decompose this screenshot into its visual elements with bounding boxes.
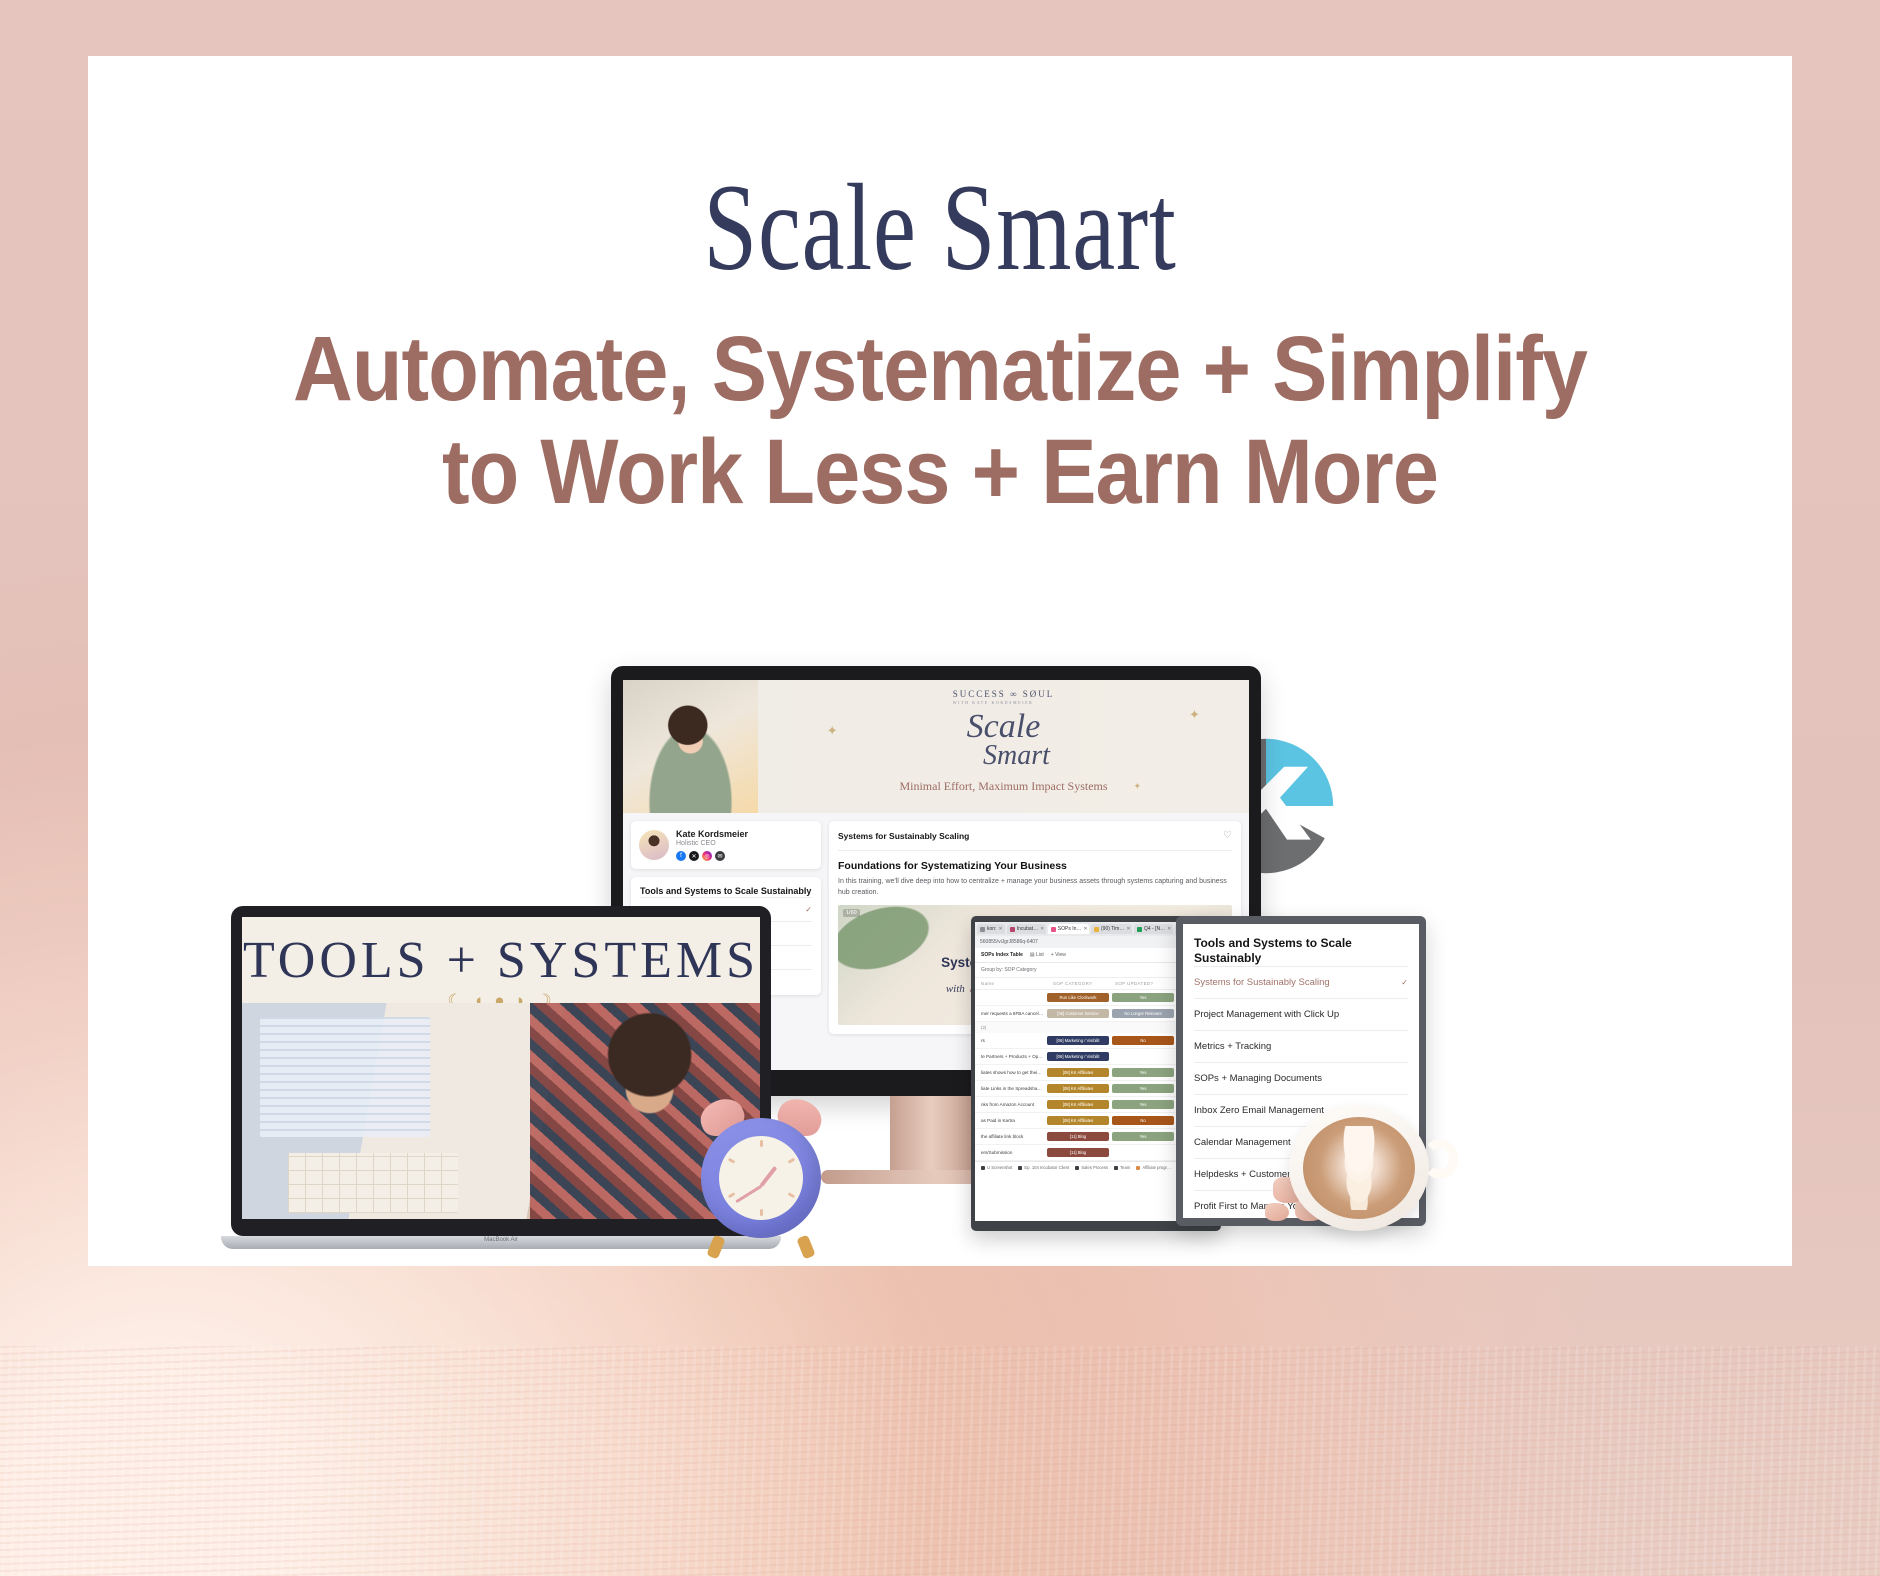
tablet-module-item[interactable]: SOPs + Managing Documents	[1194, 1062, 1408, 1094]
coffee-crema	[1303, 1117, 1415, 1219]
cell-category: [08] KK Affiliates	[1047, 1116, 1109, 1125]
cell-name: ers/Submission	[981, 1150, 1044, 1155]
coffee-cup	[1289, 1105, 1429, 1231]
footer-tab-label: Affiliate progr…	[1142, 1165, 1171, 1170]
subtitle-line-2: to Work Less + Earn More	[173, 421, 1707, 524]
instagram-icon[interactable]: ◎	[702, 851, 712, 861]
view-list-label: List	[1036, 952, 1044, 958]
tab-label: (90) Tim…	[1101, 926, 1124, 932]
close-icon[interactable]: ✕	[998, 926, 1002, 932]
table-name[interactable]: SOPs Index Table	[981, 952, 1023, 958]
headline-block: Scale Smart Automate, Systematize + Simp…	[88, 166, 1792, 524]
column-header-category: SOP CATEGORY	[1053, 981, 1115, 986]
module-label: Systems for Sustainably Scaling	[1194, 977, 1330, 988]
cell-status	[1112, 1151, 1174, 1155]
cup-handle	[1422, 1139, 1458, 1179]
cell-name: rs	[981, 1038, 1044, 1043]
tab-label: SOPs In…	[1058, 926, 1082, 932]
browser-tab[interactable]: kon:✕	[977, 924, 1005, 934]
cell-status: Yes	[1112, 1084, 1174, 1093]
success-soul-logo: SUCCESS ∞ SØUL WITH KATE KORDSMEIER	[953, 689, 1054, 705]
cell-status: Yes	[1112, 1132, 1174, 1141]
footer-tab[interactable]: Team	[1114, 1165, 1130, 1170]
cell-status	[1112, 1055, 1174, 1059]
sparkle-icon: ✦	[827, 723, 838, 739]
cell-category: [11] Blog	[1047, 1148, 1109, 1157]
close-icon[interactable]: ✕	[1083, 926, 1087, 932]
instructor-profile-card: Kate Kordsmeier Holistic CEO f ✕ ◎ ✉	[631, 821, 821, 869]
footer-tab[interactable]: U Screenshot	[981, 1165, 1012, 1170]
promo-card: Scale Smart Automate, Systematize + Simp…	[88, 56, 1792, 1266]
tab-label: kon:	[987, 926, 996, 932]
cell-status: No	[1112, 1036, 1174, 1045]
brand-logo-text: SUCCESS ∞ SØUL	[953, 689, 1054, 699]
tab-label: Q4 - [N…	[1144, 926, 1165, 932]
clock-foot-left	[706, 1235, 725, 1260]
cell-category: [11] Blog	[1047, 1132, 1109, 1141]
close-icon[interactable]: ✕	[1040, 926, 1044, 932]
desk-planner-photo	[288, 1153, 458, 1213]
lesson-header: Systems for Sustainably Scaling ♡	[838, 830, 1232, 841]
cell-name: as Paid in Kartra	[981, 1118, 1044, 1123]
cell-category: [06] Marketing / Visibilit	[1047, 1036, 1109, 1045]
cell-category: [08] KK Affiliates	[1047, 1068, 1109, 1077]
browser-tab[interactable]: Incubat…✕	[1007, 924, 1046, 934]
sparkle-icon: ✦	[1189, 707, 1200, 723]
profile-text: Kate Kordsmeier Holistic CEO f ✕ ◎ ✉	[676, 829, 748, 861]
instructor-name: Kate Kordsmeier	[676, 829, 748, 839]
browser-tab[interactable]: (90) Tim…✕	[1091, 924, 1132, 934]
hero-text-area: SUCCESS ∞ SØUL WITH KATE KORDSMEIER ✦ ✦ …	[758, 680, 1249, 813]
module-label: Calendar Management	[1194, 1137, 1291, 1148]
latte-art	[1326, 1126, 1392, 1210]
cell-status: No Longer Relevant	[1112, 1009, 1174, 1018]
footer-tab-label: U Screenshot	[987, 1165, 1012, 1170]
clock-foot-right	[796, 1235, 815, 1260]
cell-category: [08] KK Affiliates	[1047, 1100, 1109, 1109]
subtitle-line-1: Automate, Systematize + Simplify	[173, 318, 1707, 421]
presenter-prefix: with	[946, 983, 965, 995]
instructor-role: Holistic CEO	[676, 840, 748, 847]
cell-name: nks from Amazon Account	[981, 1102, 1044, 1107]
column-header-updated: SOP UPDATED?	[1115, 981, 1177, 986]
footer-tab[interactable]: Ep. 104 Incubator Client	[1018, 1165, 1069, 1170]
cell-category: [05] Customer Service	[1047, 1009, 1109, 1018]
close-icon[interactable]: ✕	[1167, 926, 1171, 932]
alarm-clock-prop	[686, 1096, 836, 1256]
cell-status: No	[1112, 1116, 1174, 1125]
column-header-name: Name	[981, 981, 1053, 986]
lesson-description: In this training, we'll dive deep into h…	[838, 877, 1232, 898]
tablet-module-item[interactable]: Systems for Sustainably Scaling ✓	[1194, 966, 1408, 998]
cell-name: the affiliate link block	[981, 1134, 1044, 1139]
heart-icon[interactable]: ♡	[1223, 830, 1232, 841]
hero-script-title: Scale Smart	[957, 711, 1050, 768]
video-badge: 1/60	[843, 909, 860, 917]
sparkle-icon: ✦	[1133, 781, 1141, 792]
hero-portrait-photo	[623, 680, 758, 813]
brand-logo-subtext: WITH KATE KORDSMEIER	[953, 700, 1054, 705]
tools-systems-title: TOOLS + SYSTEMS	[243, 931, 759, 990]
footer-tab[interactable]: Sales Process	[1075, 1165, 1108, 1170]
cell-category: [06] Marketing / Visibilit	[1047, 1052, 1109, 1061]
laptop-screen: TOOLS + SYSTEMS ☾ ◖ ● ◗ ☽	[242, 917, 760, 1219]
cell-name: te Partners + Products + Opt…	[981, 1054, 1044, 1059]
tablet-modules-title: Tools and Systems to Scale Sustainably	[1194, 936, 1408, 966]
check-icon: ✓	[1401, 978, 1408, 987]
browser-tab[interactable]: Q4 - [N…✕	[1134, 924, 1173, 934]
latte-cup-prop	[1281, 1091, 1456, 1251]
clock-hour-hand	[759, 1166, 777, 1187]
footer-tab[interactable]: Affiliate progr…	[1136, 1165, 1171, 1170]
hero-script-line2: Smart	[983, 743, 1050, 769]
group-by-button[interactable]: Group by: SOP Category	[981, 967, 1037, 973]
clock-body	[701, 1118, 821, 1238]
cell-status: Yes	[1112, 993, 1174, 1002]
cell-name: mer requests a 6FBA cancela…	[981, 1011, 1044, 1016]
footer-tab-label: Team	[1120, 1165, 1130, 1170]
close-icon[interactable]: ✕	[1126, 926, 1130, 932]
email-icon[interactable]: ✉	[715, 851, 725, 861]
laptop-model-label: MacBook Air	[484, 1237, 518, 1243]
cell-status: Yes	[1112, 1100, 1174, 1109]
module-label: SOPs + Managing Documents	[1194, 1073, 1322, 1084]
lesson-heading: Foundations for Systematizing Your Busin…	[838, 850, 1232, 872]
cell-status: Yes	[1112, 1068, 1174, 1077]
facebook-icon[interactable]: f	[676, 851, 686, 861]
footer-tab-label: Ep. 104 Incubator Client	[1024, 1165, 1069, 1170]
tablet-module-item[interactable]: Metrics + Tracking	[1194, 1030, 1408, 1062]
module-label: Project Management with Click Up	[1194, 1009, 1339, 1020]
module-label: Metrics + Tracking	[1194, 1041, 1271, 1052]
monitor-stand-neck	[890, 1096, 982, 1174]
tablet-module-item[interactable]: Project Management with Click Up	[1194, 998, 1408, 1030]
social-links: f ✕ ◎ ✉	[676, 851, 748, 861]
footer-tab-label: Sales Process	[1081, 1165, 1108, 1170]
view-list-button[interactable]: ▤ List	[1030, 952, 1044, 958]
tab-label: Incubat…	[1017, 926, 1038, 932]
cell-name: liate Links in the Spreadsha…	[981, 1086, 1044, 1091]
cell-category: Run Like Clockwork	[1047, 993, 1109, 1002]
workspace-photo	[242, 1003, 760, 1219]
browser-tab-active[interactable]: SOPs In…✕	[1048, 924, 1089, 934]
cell-category: [08] KK Affiliates	[1047, 1084, 1109, 1093]
clock-face	[719, 1136, 803, 1220]
rose-quartz-rock	[1265, 1203, 1289, 1221]
avatar	[639, 830, 669, 860]
cell-name: liates shows how to get thei…	[981, 1070, 1044, 1075]
add-view-button[interactable]: + View	[1051, 952, 1066, 958]
x-icon[interactable]: ✕	[689, 851, 699, 861]
lesson-kicker: Systems for Sustainably Scaling	[838, 831, 969, 841]
course-hero-banner: SUCCESS ∞ SØUL WITH KATE KORDSMEIER ✦ ✦ …	[623, 680, 1249, 813]
check-icon: ✓	[805, 905, 812, 914]
clock-minute-hand	[735, 1185, 762, 1203]
device-mockup-stage: SUCCESS ∞ SØUL WITH KATE KORDSMEIER ✦ ✦ …	[176, 616, 1880, 1346]
page-title: Scale Smart	[275, 166, 1604, 290]
modules-panel-title: Tools and Systems to Scale Sustainably	[640, 886, 812, 897]
hero-tagline: Minimal Effort, Maximum Impact Systems	[899, 779, 1107, 794]
